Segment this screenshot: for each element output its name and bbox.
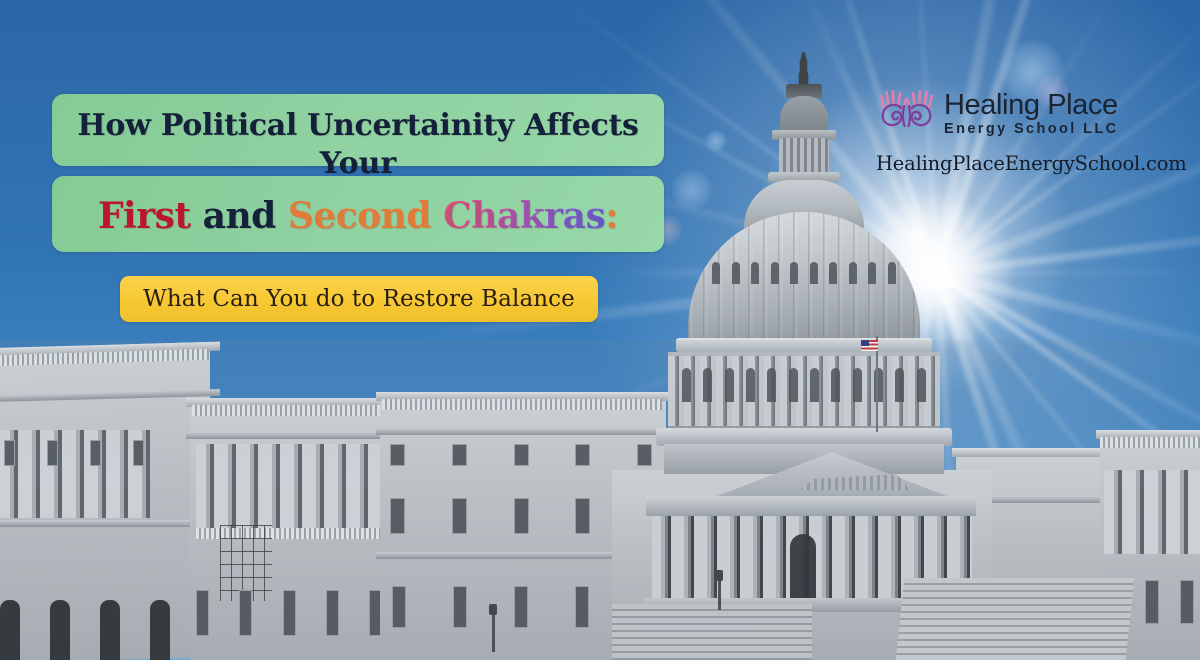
peristyle-arches (676, 368, 932, 412)
cornice (186, 432, 392, 439)
lamp-head-icon (489, 604, 497, 615)
two-hands-with-spirals-icon (876, 86, 938, 142)
headline-colon: : (605, 195, 618, 237)
headline-word-second: Second (288, 195, 431, 237)
column-row (196, 444, 382, 528)
roofline (952, 448, 1120, 457)
entablature (646, 496, 976, 516)
headline-word-chakras: Chakras (431, 195, 605, 237)
cornice (376, 428, 668, 435)
brand-name-line1: Healing Place (944, 90, 1119, 120)
dome-cornice (676, 338, 932, 352)
portico-doorway (790, 534, 816, 602)
column-row (1104, 470, 1200, 554)
headline-word-and: and (191, 195, 288, 237)
brand-logo-text: Healing Place Energy School LLC (944, 90, 1119, 138)
headline-line-1: How Political Uncertainity Affects (52, 100, 664, 150)
window-row (390, 444, 652, 466)
window-row (196, 590, 382, 636)
dome-lantern (779, 138, 829, 174)
lamp-post (718, 578, 721, 610)
statue-of-freedom-icon (797, 52, 810, 86)
flag-canton (861, 340, 869, 346)
subtitle-text: What Can You do to Restore Balance (143, 286, 575, 312)
arch-row (0, 600, 170, 660)
headline-word-first: First (98, 195, 191, 237)
balustrade (382, 399, 662, 410)
headline-line-2: Your (52, 144, 664, 182)
brand-logo[interactable]: Healing Place Energy School LLC (876, 84, 1146, 144)
brand-name-line2: Energy School LLC (944, 120, 1119, 138)
lamp-head-icon (715, 570, 723, 581)
capitol-steps (896, 578, 1135, 660)
cornice (0, 520, 215, 527)
dome-window-row (706, 256, 902, 290)
lamp-post (492, 612, 495, 652)
subtitle-box: What Can You do to Restore Balance (120, 276, 598, 322)
capitol-steps-lower (612, 604, 812, 660)
balustrade (192, 405, 386, 416)
poster-canvas: How Political Uncertainity Affects Your … (0, 0, 1200, 660)
dome-tholos-upper (780, 96, 828, 132)
headline-line-3: First and Second Chakras: (52, 192, 664, 240)
balustrade (1100, 437, 1200, 448)
website-url[interactable]: HealingPlaceEnergySchool.com (876, 152, 1148, 175)
window-row (4, 440, 144, 466)
